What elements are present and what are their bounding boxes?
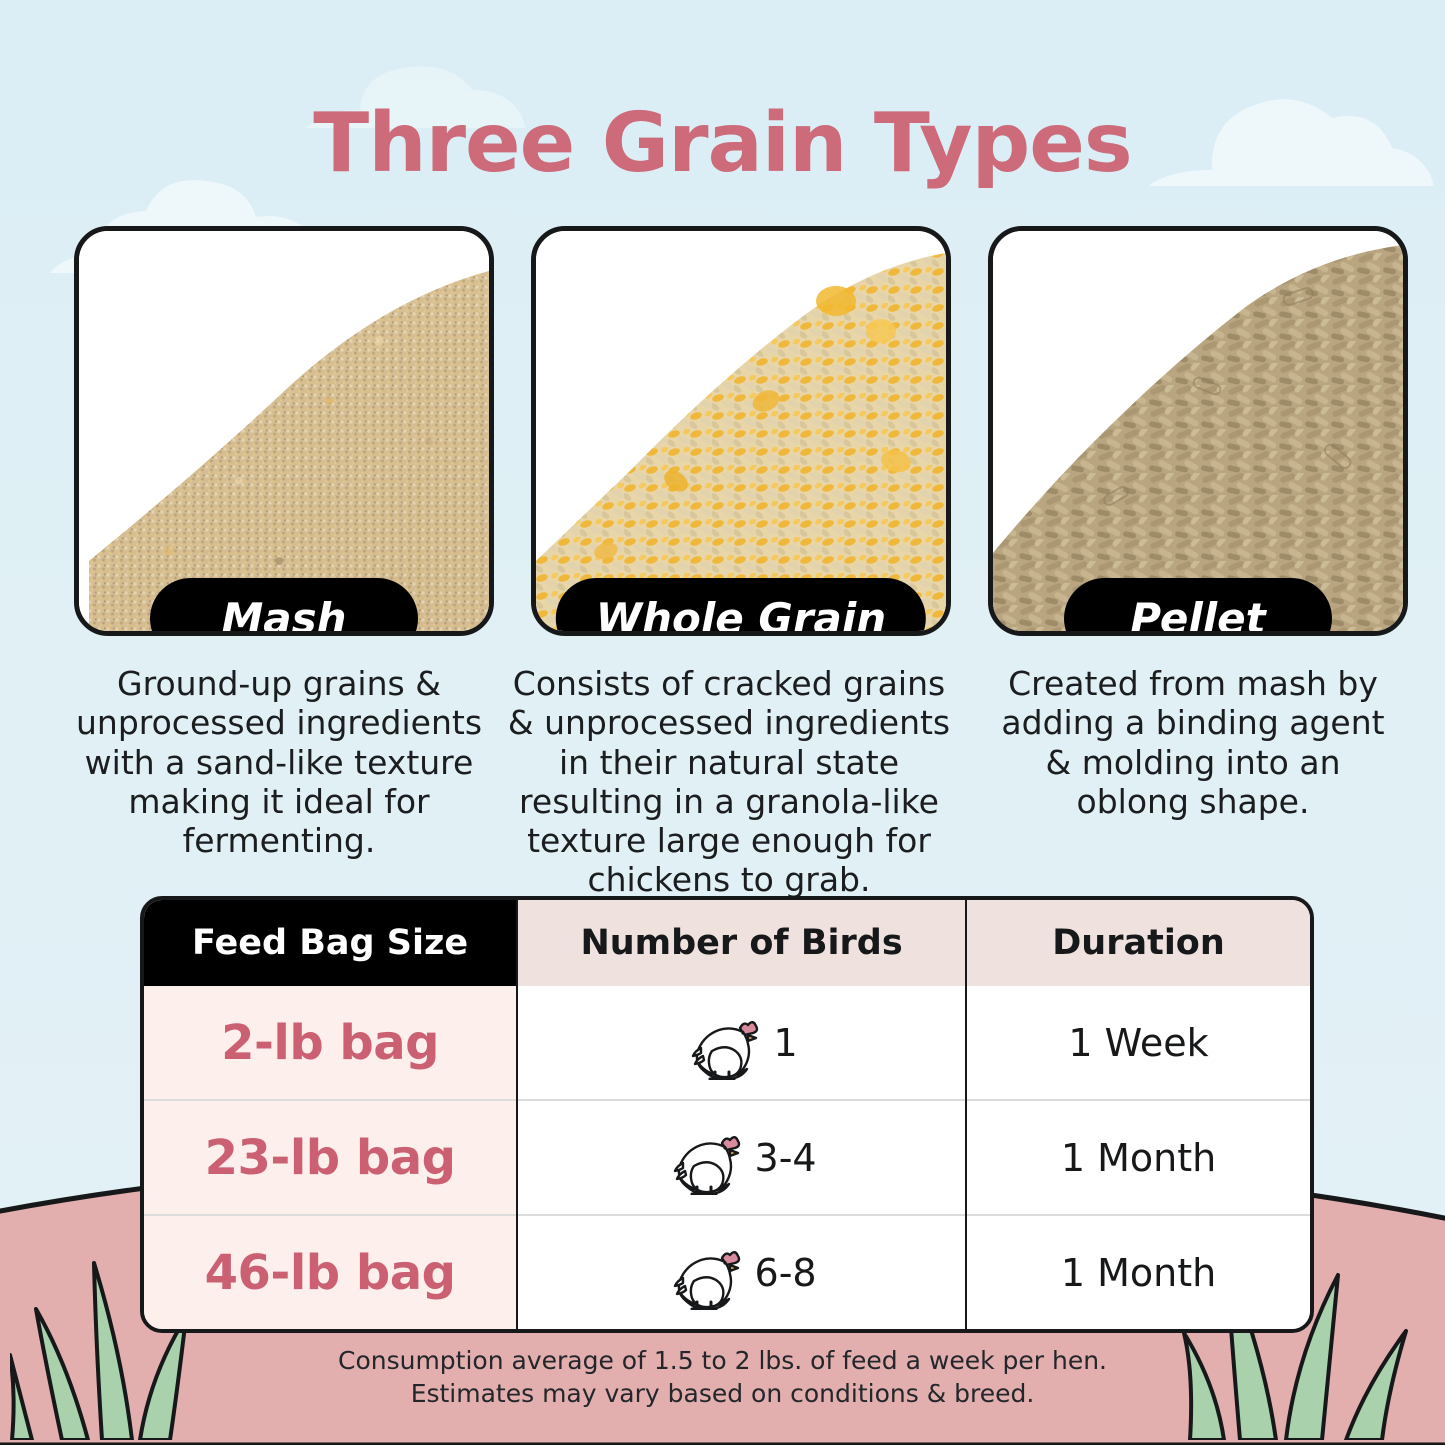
bird-count: 1 xyxy=(773,1021,797,1065)
cell-duration: 1 Month xyxy=(966,1100,1310,1215)
footnote-line-2: Estimates may vary based on conditions &… xyxy=(0,1377,1445,1410)
table-header-feed-bag-size: Feed Bag Size xyxy=(144,900,517,986)
hen-icon xyxy=(685,1006,759,1080)
cell-bag-size: 2-lb bag xyxy=(144,986,517,1100)
table-row: 2-lb bag xyxy=(144,986,1310,1100)
grain-descriptions: Ground-up grains & unprocessed ingredien… xyxy=(0,664,1445,864)
cell-bag-size: 46-lb bag xyxy=(144,1215,517,1329)
bird-count: 6-8 xyxy=(755,1251,817,1295)
cell-duration: 1 Week xyxy=(966,986,1310,1100)
footnote-line-1: Consumption average of 1.5 to 2 lbs. of … xyxy=(0,1344,1445,1377)
cell-number-of-birds: 1 xyxy=(517,986,966,1100)
pellet-pile-photo xyxy=(993,231,1403,631)
whole-grain-pile-photo xyxy=(536,231,946,631)
bird-count: 3-4 xyxy=(755,1136,817,1180)
table-row: 46-lb bag xyxy=(144,1215,1310,1329)
hen-icon xyxy=(667,1236,741,1310)
grain-description-mash: Ground-up grains & unprocessed ingredien… xyxy=(64,664,494,860)
grain-description-pellet: Created from mash by adding a binding ag… xyxy=(988,664,1398,821)
cell-duration: 1 Month xyxy=(966,1215,1310,1329)
grain-card-whole-grain[interactable]: Whole Grain xyxy=(531,226,951,636)
page-title: Three Grain Types xyxy=(0,96,1445,191)
table-header-row: Feed Bag Size Number of Birds Duration xyxy=(144,900,1310,986)
hen-icon xyxy=(667,1121,741,1195)
table-row: 23-lb bag xyxy=(144,1100,1310,1215)
infographic-canvas: Three Grain Types xyxy=(0,0,1445,1445)
grain-card-mash[interactable]: Mash xyxy=(74,226,494,636)
table-header-number-of-birds: Number of Birds xyxy=(517,900,966,986)
grain-card-label-mash: Mash xyxy=(150,578,418,636)
grain-card-pellet[interactable]: Pellet xyxy=(988,226,1408,636)
mash-pile-photo xyxy=(79,231,489,631)
grain-description-whole-grain: Consists of cracked grains & unprocessed… xyxy=(496,664,962,900)
cell-number-of-birds: 3-4 xyxy=(517,1100,966,1215)
grain-card-label-whole-grain: Whole Grain xyxy=(556,578,926,636)
grain-cards: Mash xyxy=(0,226,1445,646)
grain-card-label-pellet: Pellet xyxy=(1064,578,1332,636)
cell-number-of-birds: 6-8 xyxy=(517,1215,966,1329)
feed-bag-table: Feed Bag Size Number of Birds Duration 2… xyxy=(140,896,1314,1333)
footnote: Consumption average of 1.5 to 2 lbs. of … xyxy=(0,1344,1445,1411)
table-header-duration: Duration xyxy=(966,900,1310,986)
cell-bag-size: 23-lb bag xyxy=(144,1100,517,1215)
